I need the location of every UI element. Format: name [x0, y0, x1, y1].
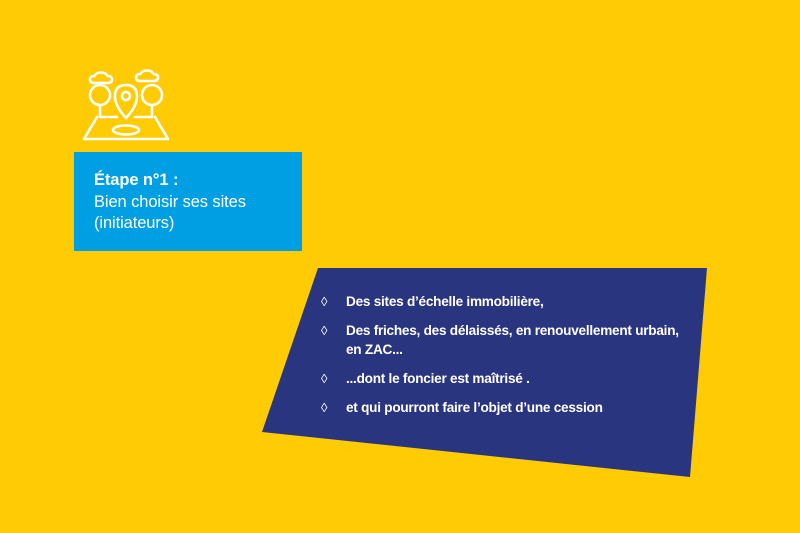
diamond-bullet-icon: ◊	[320, 369, 346, 388]
step-subtitle-line-2: (initiateurs)	[94, 213, 282, 234]
bush-right-shape	[136, 71, 158, 82]
diamond-bullet-icon: ◊	[320, 321, 346, 340]
list-item-label: et qui pourront faire l’objet d’une cess…	[346, 398, 696, 417]
diamond-bullet-icon: ◊	[320, 398, 346, 417]
list-item: ◊ Des friches, des délaissés, en renouve…	[320, 321, 715, 359]
pin-shadow-ellipse	[113, 126, 139, 135]
step-heading: Étape n°1 :	[94, 170, 282, 192]
tree-right-canopy	[142, 85, 162, 105]
location-pin-body	[115, 85, 137, 118]
slide-canvas: Étape n°1 : Bien choisir ses sites (init…	[0, 0, 800, 533]
list-item: ◊ ...dont le foncier est maîtrisé .	[320, 369, 715, 388]
list-item: ◊ et qui pourront faire l’objet d’une ce…	[320, 398, 715, 417]
site-map-location-pin-icon	[72, 64, 180, 144]
list-item-label: ...dont le foncier est maîtrisé .	[346, 369, 696, 388]
bullets-panel: ◊ Des sites d’échelle immobilière, ◊ Des…	[255, 262, 715, 484]
list-item-label: Des friches, des délaissés, en renouvell…	[346, 321, 696, 359]
tree-left-canopy	[90, 85, 110, 105]
list-item-label: Des sites d’échelle immobilière,	[346, 292, 696, 311]
step-card: Étape n°1 : Bien choisir ses sites (init…	[74, 152, 302, 251]
bush-left-shape	[90, 73, 112, 84]
step-subtitle-line-1: Bien choisir ses sites	[94, 192, 282, 213]
diamond-bullet-icon: ◊	[320, 292, 346, 311]
location-pin-dot	[122, 92, 130, 100]
bullets-list: ◊ Des sites d’échelle immobilière, ◊ Des…	[255, 262, 715, 484]
list-item: ◊ Des sites d’échelle immobilière,	[320, 292, 715, 311]
